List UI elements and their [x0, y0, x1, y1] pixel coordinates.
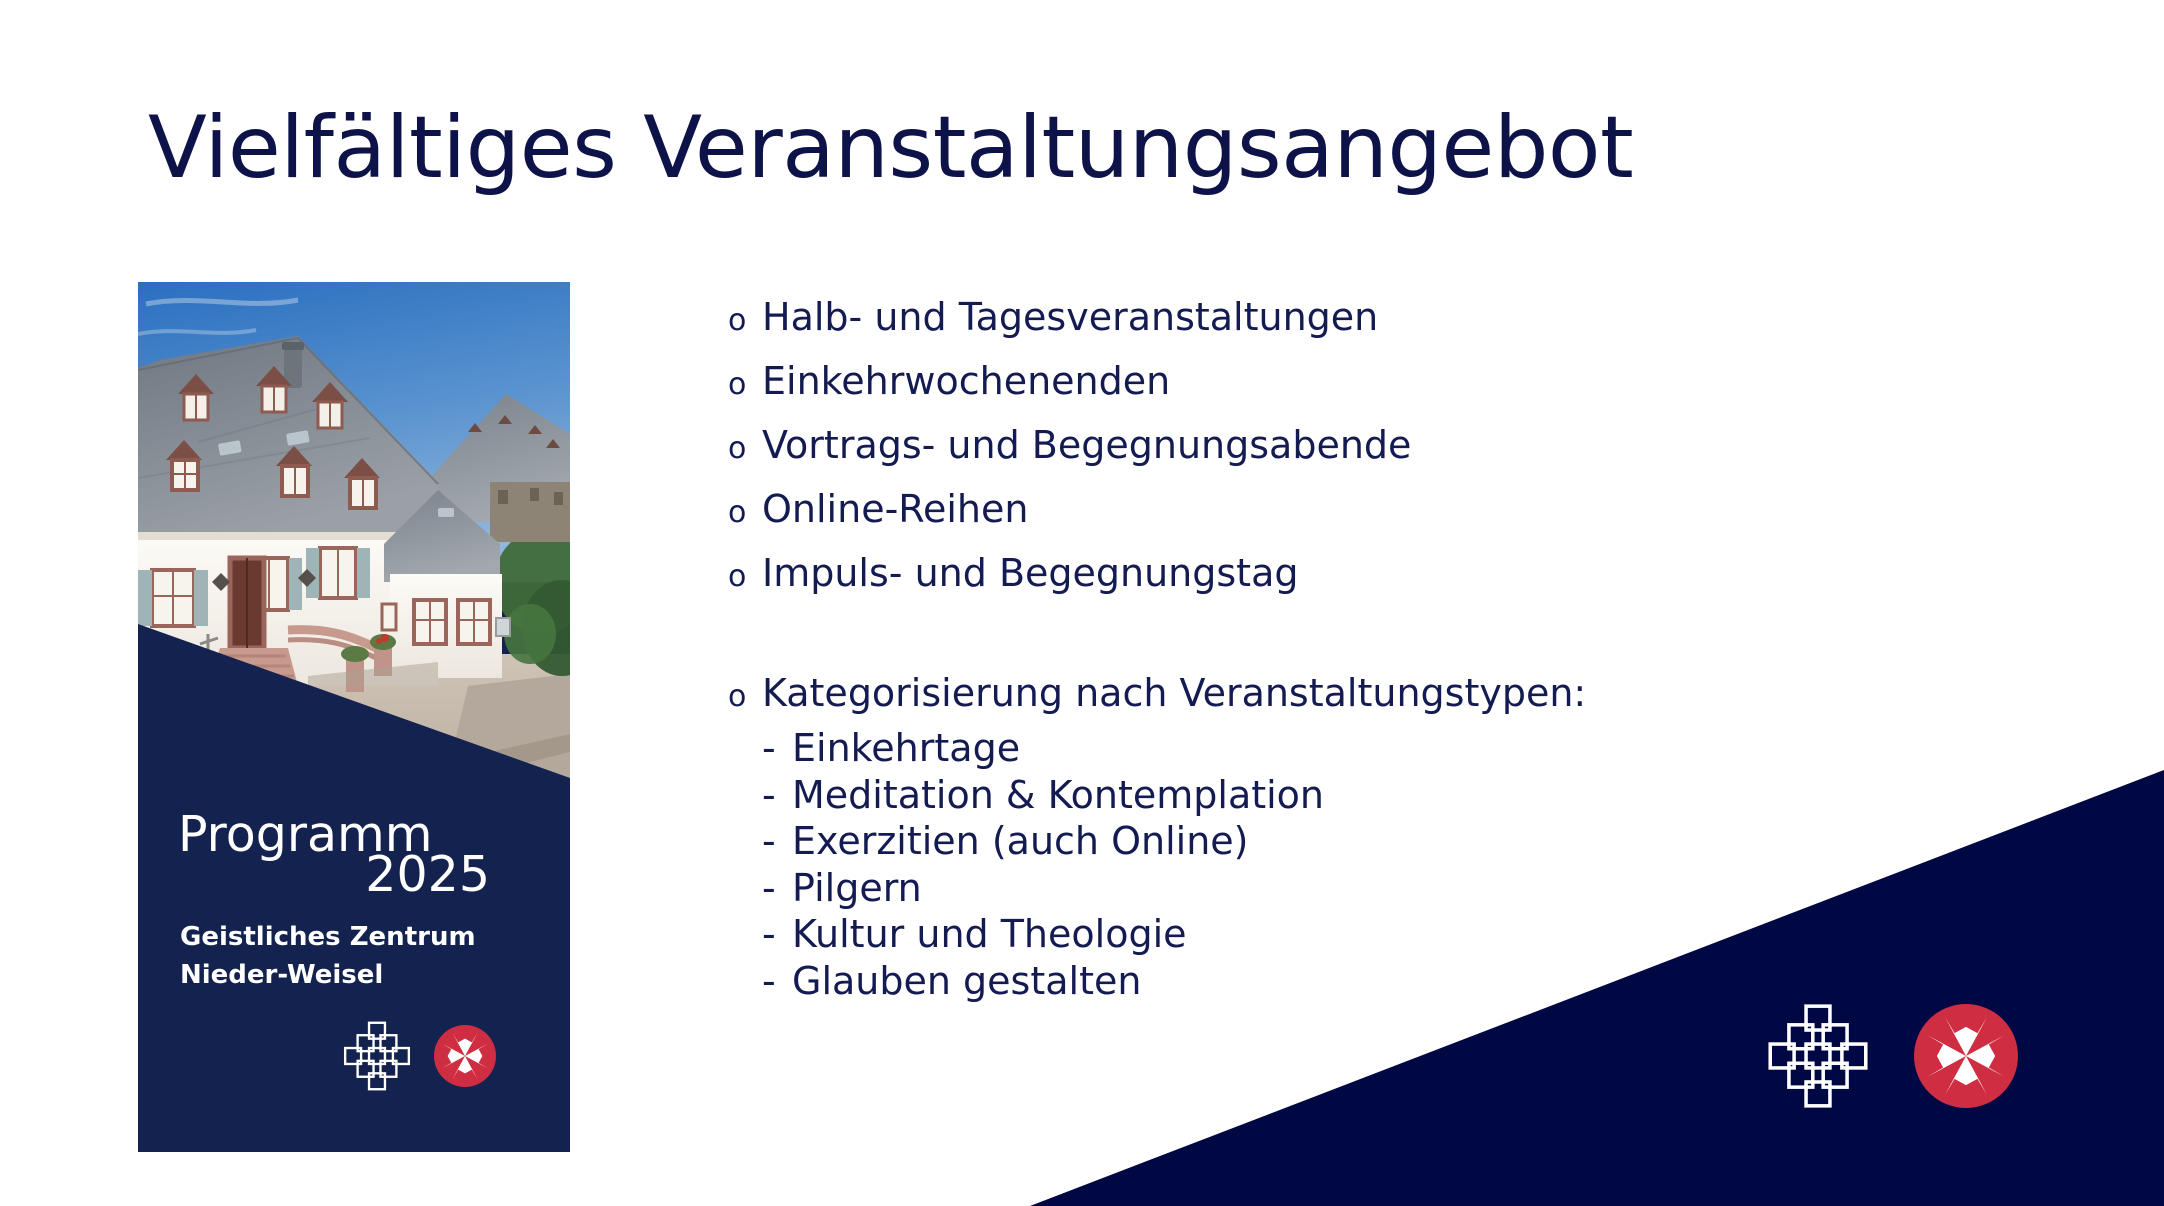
content-list: o Halb- und Tagesveranstaltungen o Einke… — [728, 287, 1908, 1004]
brochure-org-line-2: Nieder-Weisel — [180, 956, 476, 994]
bullet-label: Impuls- und Begegnungstag — [762, 543, 1299, 603]
bullet-marker: o — [728, 291, 762, 351]
list-item-categorisation: o Kategorisierung nach Veranstaltungstyp… — [728, 663, 1908, 727]
bullet-marker: o — [728, 667, 762, 727]
malteser-cross-icon — [434, 1025, 496, 1091]
sub-list-label: Meditation & Kontemplation — [792, 772, 1324, 819]
bullet-marker: o — [728, 483, 762, 543]
bullet-label: Einkehrwochenenden — [762, 351, 1170, 411]
list-spacer — [728, 607, 1908, 663]
list-item: o Online-Reihen — [728, 479, 1908, 543]
gzn-cross-icon — [1766, 1002, 1870, 1114]
list-item: o Halb- und Tagesveranstaltungen — [728, 287, 1908, 351]
bullet-marker: o — [728, 547, 762, 607]
sub-list-label: Einkehrtage — [792, 725, 1020, 772]
corner-logo-group — [1766, 1002, 2018, 1114]
bullet-label: Kategorisierung nach Veranstaltungstypen… — [762, 663, 1586, 723]
bullet-label: Online-Reihen — [762, 479, 1028, 539]
dash-marker: - — [762, 865, 792, 912]
bullet-marker: o — [728, 419, 762, 479]
gzn-cross-icon — [342, 1020, 412, 1096]
sub-list-item: - Pilgern — [762, 865, 1908, 912]
category-sublist: - Einkehrtage - Meditation & Kontemplati… — [762, 725, 1908, 1004]
brochure-org-line-1: Geistliches Zentrum — [180, 918, 476, 956]
sub-list-item: - Einkehrtage — [762, 725, 1908, 772]
brochure-year: 2025 — [178, 850, 490, 899]
sub-list-item: - Kultur und Theologie — [762, 911, 1908, 958]
bullet-label: Vortrags- und Begegnungsabende — [762, 415, 1411, 475]
sub-list-label: Exerzitien (auch Online) — [792, 818, 1248, 865]
bullet-label: Halb- und Tagesveranstaltungen — [762, 287, 1378, 347]
sub-list-item: - Meditation & Kontemplation — [762, 772, 1908, 819]
sub-list-label: Glauben gestalten — [792, 958, 1141, 1005]
sub-list-item: - Exerzitien (auch Online) — [762, 818, 1908, 865]
dash-marker: - — [762, 818, 792, 865]
list-item: o Einkehrwochenenden — [728, 351, 1908, 415]
list-item: o Vortrags- und Begegnungsabende — [728, 415, 1908, 479]
sub-list-label: Pilgern — [792, 865, 922, 912]
brochure-logo-group — [342, 1020, 496, 1096]
brochure-organisation: Geistliches Zentrum Nieder-Weisel — [180, 918, 476, 995]
bullet-marker: o — [728, 355, 762, 415]
list-item: o Impuls- und Begegnungstag — [728, 543, 1908, 607]
dash-marker: - — [762, 725, 792, 772]
sub-list-label: Kultur und Theologie — [792, 911, 1187, 958]
page-title: Vielfältiges Veranstaltungsangebot — [148, 100, 2048, 196]
dash-marker: - — [762, 958, 792, 1005]
sub-list-item: - Glauben gestalten — [762, 958, 1908, 1005]
brochure-cover-card: Programm 2025 Geistliches Zentrum Nieder… — [138, 282, 570, 1152]
dash-marker: - — [762, 772, 792, 819]
malteser-cross-icon — [1914, 1004, 2018, 1112]
dash-marker: - — [762, 911, 792, 958]
